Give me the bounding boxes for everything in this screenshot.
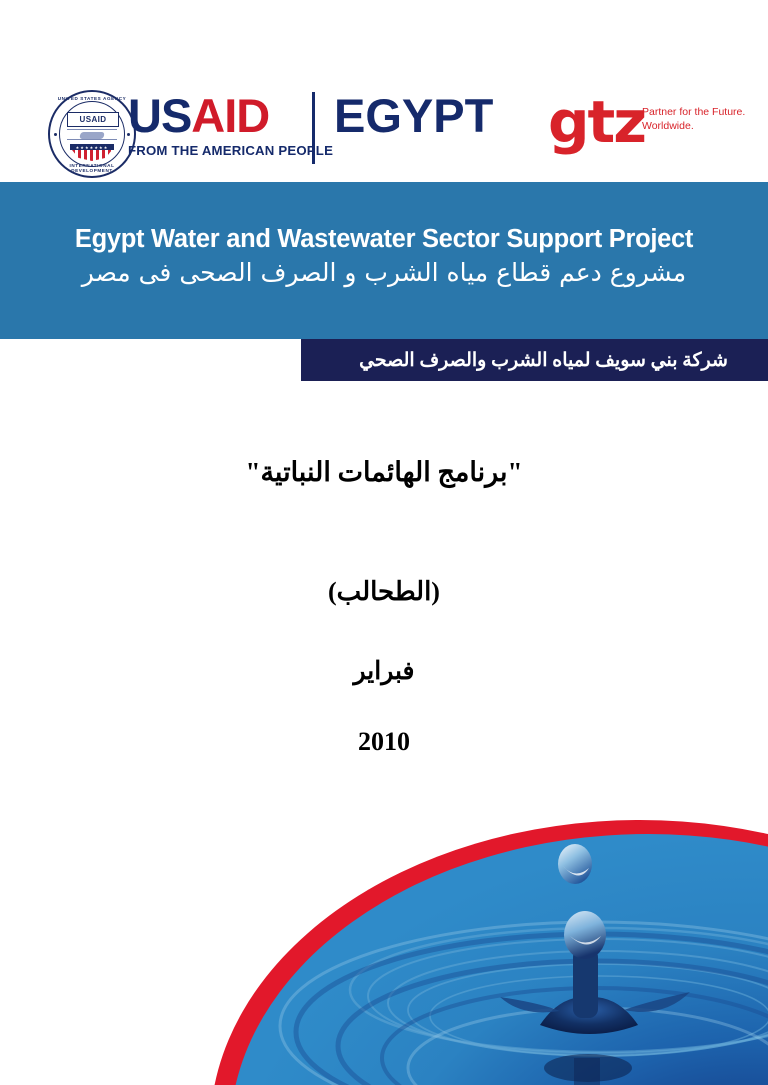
usaid-wordmark-us: US	[128, 89, 191, 142]
seal-stripes	[72, 150, 112, 161]
page-title: "برنامج الهائمات النباتية"	[0, 455, 768, 489]
usaid-seal-icon: UNITED STATES AGENCY INTERNATIONAL DEVEL…	[48, 90, 136, 178]
usaid-wordmark: USAID FROM THE AMERICAN PEOPLE	[128, 92, 308, 158]
project-title-ar: مشروع دعم قطاع مياه الشرب و الصرف الصحى …	[0, 256, 768, 290]
document-title-block: "برنامج الهائمات النباتية" (الطحالب) فبر…	[0, 455, 768, 759]
document-subtitle: (الطحالب)	[0, 575, 768, 609]
seal-usaid-box: USAID	[67, 112, 119, 127]
seal-dot-left	[54, 133, 57, 136]
gtz-logo: gtz Partner for the Future. Worldwide.	[548, 95, 748, 157]
handshake-icon	[67, 128, 117, 142]
shield-icon: ★★★★★★★	[70, 144, 114, 161]
seal-top-text: UNITED STATES AGENCY	[48, 96, 136, 101]
gtz-tagline-line1: Partner for the Future.	[642, 105, 745, 119]
gtz-wordmark: gtz	[548, 93, 645, 151]
falling-droplet	[558, 844, 592, 884]
seal-stars: ★★★★★★★	[70, 144, 114, 150]
usaid-tagline: FROM THE AMERICAN PEOPLE	[128, 143, 308, 158]
project-title-en: Egypt Water and Wastewater Sector Suppor…	[0, 224, 768, 254]
document-month: فبراير	[0, 655, 768, 689]
usaid-wordmark-text: USAID	[128, 92, 308, 140]
egypt-wordmark: EGYPT	[334, 92, 493, 140]
seal-bottom-text: INTERNATIONAL DEVELOPMENT	[48, 163, 136, 173]
splash-bead	[564, 911, 606, 959]
water-droplet-artwork	[0, 800, 768, 1085]
droplet-illustration	[0, 800, 768, 1085]
header-logo-row: UNITED STATES AGENCY INTERNATIONAL DEVEL…	[0, 40, 768, 150]
gtz-tagline: Partner for the Future. Worldwide.	[642, 105, 745, 133]
splash-reflection	[574, 1058, 600, 1085]
company-bar: شركة بني سويف لمياه الشرب والصرف الصحي	[301, 339, 768, 381]
usaid-wordmark-aid: AID	[191, 89, 269, 142]
project-banner: Egypt Water and Wastewater Sector Suppor…	[0, 182, 768, 339]
company-name: شركة بني سويف لمياه الشرب والصرف الصحي	[359, 349, 728, 372]
logo-divider	[312, 92, 315, 164]
document-year: 2010	[0, 725, 768, 759]
gtz-tagline-line2: Worldwide.	[642, 119, 745, 133]
